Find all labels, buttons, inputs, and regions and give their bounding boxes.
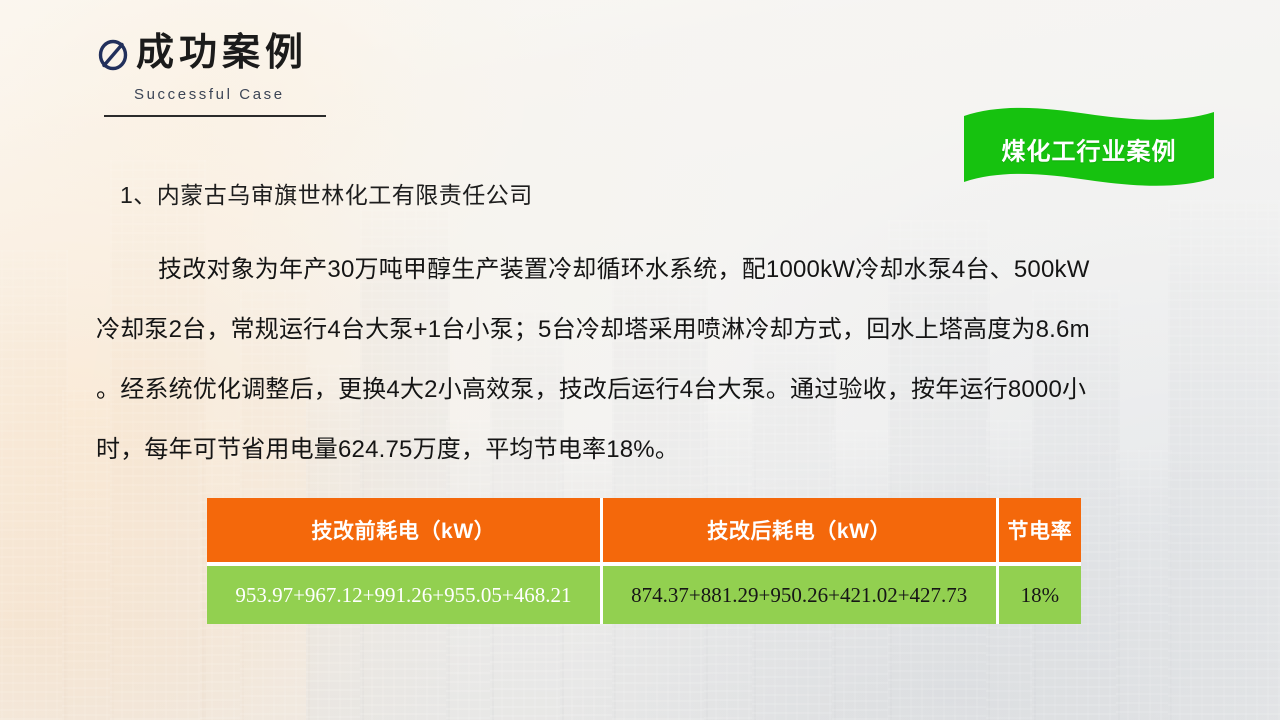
cell-before-value: 953.97+967.12+991.26+955.05+468.21 [207,562,603,624]
cell-saving-rate: 18% [999,562,1081,624]
industry-badge-label: 煤化工行业案例 [962,132,1216,167]
case-company-line: 1、内蒙古乌审旗世林化工有限责任公司 [120,176,533,210]
slide: 成功案例 Successful Case 煤化工行业案例 1、内蒙古乌审旗世林化… [0,0,1280,720]
paragraph-line: 时，每年可节省用电量624.75万度，平均节电率18%。 [96,420,1192,480]
table-header-row: 技改前耗电（kW） 技改后耗电（kW） 节电率 [207,498,1081,562]
page-subtitle: Successful Case [134,86,616,103]
title-divider [104,115,326,117]
case-description: 技改对象为年产30万吨甲醇生产装置冷却循环水系统，配1000kW冷却水泵4台、5… [96,240,1192,480]
table-header-after: 技改后耗电（kW） [603,498,999,562]
table-header-rate: 节电率 [999,498,1081,562]
page-title: 成功案例 [136,34,308,72]
slide-header: 成功案例 Successful Case [96,34,616,117]
industry-badge: 煤化工行业案例 [962,106,1216,192]
title-row: 成功案例 [96,34,616,72]
table-header-before: 技改前耗电（kW） [207,498,603,562]
paragraph-line: 技改对象为年产30万吨甲醇生产装置冷却循环水系统，配1000kW冷却水泵4台、5… [96,240,1192,300]
table-row: 953.97+967.12+991.26+955.05+468.21 874.3… [207,562,1081,624]
paragraph-line: 。经系统优化调整后，更换4大2小高效泵，技改后运行4台大泵。通过验收，按年运行8… [96,360,1192,420]
paragraph-line: 冷却泵2台，常规运行4台大泵+1台小泵；5台冷却塔采用喷淋冷却方式，回水上塔高度… [96,300,1192,360]
cell-after-value: 874.37+881.29+950.26+421.02+427.73 [603,562,999,624]
slashed-circle-icon [96,38,130,72]
energy-comparison-table: 技改前耗电（kW） 技改后耗电（kW） 节电率 953.97+967.12+99… [207,498,1081,624]
